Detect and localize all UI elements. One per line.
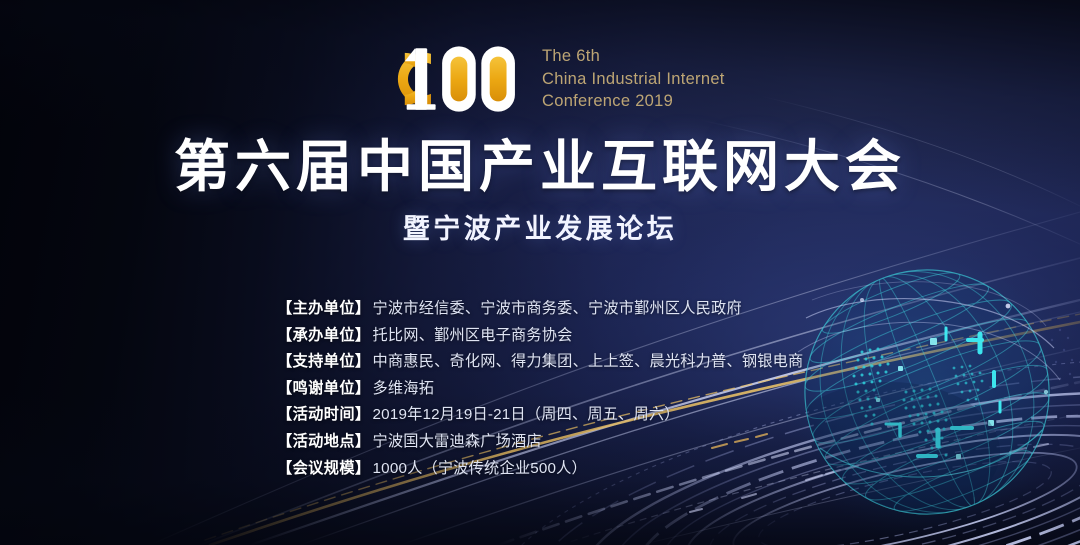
info-value: 中商惠民、奇化网、得力集团、上上签、晨光科力普、钢银电商 bbox=[373, 353, 804, 370]
logo-row: The 6th China Industrial Internet Confer… bbox=[388, 36, 725, 122]
logo-english-line-3: Conference 2019 bbox=[542, 90, 725, 113]
info-row-organizer: 【主办单位】宁波市经信委、宁波市商务委、宁波市鄞州区人民政府 bbox=[277, 296, 917, 323]
info-label: 【鸣谢单位】 bbox=[277, 380, 371, 397]
info-value: 多维海拓 bbox=[373, 380, 435, 397]
info-row-scale: 【会议规模】1000人（宁波传统企业500人） bbox=[277, 456, 917, 483]
info-row-supporter: 【支持单位】中商惠民、奇化网、得力集团、上上签、晨光科力普、钢银电商 bbox=[277, 349, 917, 376]
info-value: 宁波市经信委、宁波市商务委、宁波市鄞州区人民政府 bbox=[373, 300, 742, 317]
info-value: 托比网、鄞州区电子商务协会 bbox=[373, 327, 573, 344]
logo-english-line-1: The 6th bbox=[542, 45, 725, 68]
info-label: 【主办单位】 bbox=[277, 300, 371, 317]
conference-poster: The 6th China Industrial Internet Confer… bbox=[0, 0, 1080, 545]
info-label: 【会议规模】 bbox=[277, 460, 371, 477]
page-title: 第六届中国产业互联网大会 bbox=[0, 136, 1080, 198]
page-subtitle: 暨宁波产业发展论坛 bbox=[0, 212, 1080, 246]
info-label: 【支持单位】 bbox=[277, 353, 371, 370]
info-label: 【活动地点】 bbox=[277, 433, 371, 450]
logo-english-line-2: China Industrial Internet bbox=[542, 68, 725, 91]
info-label: 【承办单位】 bbox=[277, 327, 371, 344]
info-row-venue: 【活动地点】宁波国大雷迪森广场酒店 bbox=[277, 429, 917, 456]
info-value: 2019年12月19日-21日（周四、周五、周六） bbox=[373, 406, 680, 423]
c100-conference-logo bbox=[388, 36, 528, 122]
info-row-undertaker: 【承办单位】托比网、鄞州区电子商务协会 bbox=[277, 323, 917, 350]
info-value: 宁波国大雷迪森广场酒店 bbox=[373, 433, 542, 450]
info-row-thanks: 【鸣谢单位】多维海拓 bbox=[277, 376, 917, 403]
info-row-datetime: 【活动时间】2019年12月19日-21日（周四、周五、周六） bbox=[277, 402, 917, 429]
logo-english-text: The 6th China Industrial Internet Confer… bbox=[542, 45, 725, 113]
info-label: 【活动时间】 bbox=[277, 406, 371, 423]
info-value: 1000人（宁波传统企业500人） bbox=[373, 460, 587, 477]
event-info-block: 【主办单位】宁波市经信委、宁波市商务委、宁波市鄞州区人民政府 【承办单位】托比网… bbox=[277, 296, 917, 482]
